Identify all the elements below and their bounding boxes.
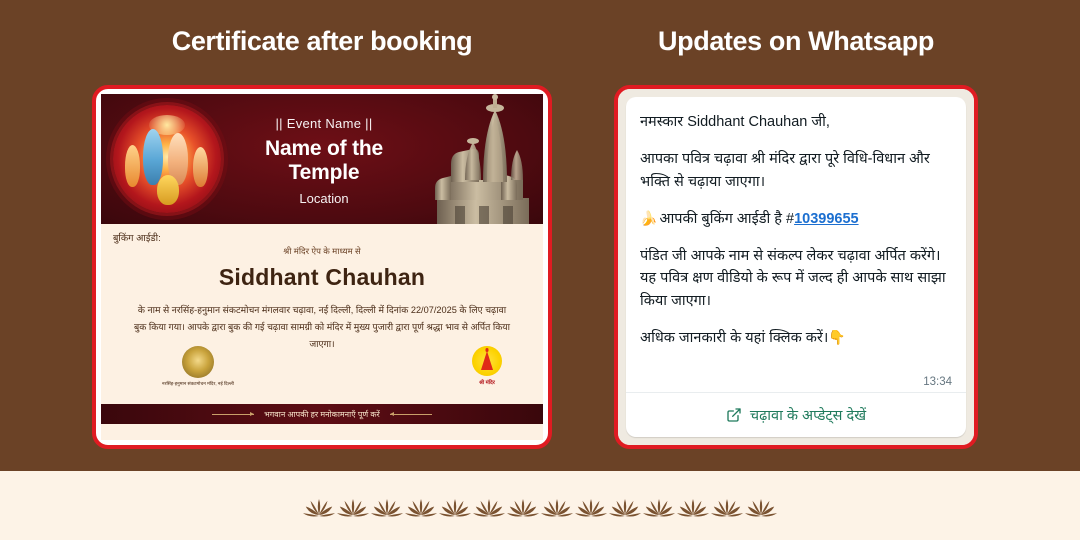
whatsapp-booking-prefix: आपकी बुकिंग आईडी है # bbox=[659, 211, 794, 227]
whatsapp-chat-canvas: नमस्कार Siddhant Chauhan जी, आपका पवित्र… bbox=[618, 89, 974, 445]
lotus-motif bbox=[676, 497, 710, 518]
lotus-motif bbox=[506, 497, 540, 518]
certificate-footer-text: भगवान आपकी हर मनोकामनाएँ पूर्ण करें bbox=[264, 409, 380, 420]
view-updates-button[interactable]: चढ़ावा के अप्डेट्स देखें bbox=[626, 392, 966, 437]
lotus-motif bbox=[574, 497, 608, 518]
certificate-panel-title: Certificate after booking bbox=[92, 26, 552, 57]
whatsapp-panel-title: Updates on Whatsapp bbox=[614, 26, 978, 57]
lotus-motif bbox=[540, 497, 574, 518]
whatsapp-greeting: नमस्कार Siddhant Chauhan जी, bbox=[640, 111, 952, 133]
screenshot-canvas: Certificate after booking Updates on Wha… bbox=[0, 0, 1080, 540]
temple-thumbnail-block: नरसिंह-हनुमान संकटमोचन मंदिर, नई दिल्ली bbox=[143, 346, 253, 388]
footer-rule-left-icon bbox=[212, 414, 254, 415]
brand-logo-block: श्री मंदिर bbox=[457, 346, 517, 386]
temple-name: Name of the Temple bbox=[229, 137, 419, 185]
whatsapp-more-info-text: अधिक जानकारी के यहां क्लिक करें। bbox=[640, 330, 828, 346]
deity-medallion-image bbox=[113, 105, 221, 213]
point-down-emoji-icon: 👇 bbox=[828, 329, 845, 345]
booking-id-link[interactable]: 10399655 bbox=[794, 211, 859, 227]
whatsapp-message-bubble: नमस्कार Siddhant Chauhan जी, आपका पवित्र… bbox=[626, 97, 966, 437]
whatsapp-booking-line: 🍌आपकी बुकिंग आईडी है #10399655 bbox=[640, 208, 952, 230]
temple-shikhara-image bbox=[421, 94, 541, 224]
booking-id-label: बुकिंग आईडी: bbox=[113, 231, 161, 244]
certificate-card: || Event Name || Name of the Temple Loca… bbox=[92, 85, 552, 449]
recipient-name: Siddhant Chauhan bbox=[101, 264, 543, 291]
message-timestamp: 13:34 bbox=[640, 376, 952, 392]
lotus-motif bbox=[472, 497, 506, 518]
certificate-inner: || Event Name || Name of the Temple Loca… bbox=[101, 94, 543, 440]
lotus-motif bbox=[744, 497, 778, 518]
certificate-footer-bar: भगवान आपकी हर मनोकामनाएँ पूर्ण करें bbox=[101, 404, 543, 424]
certificate-header-text: || Event Name || Name of the Temple Loca… bbox=[229, 116, 419, 206]
lotus-motif bbox=[370, 497, 404, 518]
lotus-motif bbox=[438, 497, 472, 518]
temple-location: Location bbox=[229, 191, 419, 206]
temple-thumbnail-image bbox=[182, 346, 214, 378]
shri-mandir-logo-icon bbox=[472, 346, 502, 376]
temple-thumbnail-caption: नरसिंह-हनुमान संकटमोचन मंदिर, नई दिल्ली bbox=[143, 381, 253, 388]
whatsapp-pandit-line: पंडित जी आपके नाम से संकल्प लेकर चढ़ावा … bbox=[640, 245, 952, 312]
brand-caption: श्री मंदिर bbox=[457, 378, 517, 386]
lotus-motif bbox=[608, 497, 642, 518]
lotus-motif bbox=[336, 497, 370, 518]
external-link-icon bbox=[726, 407, 742, 423]
lotus-motif bbox=[642, 497, 676, 518]
certificate-header: || Event Name || Name of the Temple Loca… bbox=[101, 94, 543, 224]
certificate-body: बुकिंग आईडी: श्री मंदिर ऐप के माध्यम से … bbox=[101, 224, 543, 424]
event-name: || Event Name || bbox=[229, 116, 419, 131]
banana-emoji-icon: 🍌 bbox=[640, 210, 657, 226]
whatsapp-more-info-line: अधिक जानकारी के यहां क्लिक करें।👇 bbox=[640, 327, 952, 349]
lotus-border-decoration bbox=[0, 486, 1080, 528]
view-updates-label: चढ़ावा के अप्डेट्स देखें bbox=[750, 405, 866, 425]
lotus-motif bbox=[302, 497, 336, 518]
via-app-text: श्री मंदिर ऐप के माध्यम से bbox=[101, 246, 543, 257]
footer-rule-right-icon bbox=[390, 414, 432, 415]
certificate-logos: नरसिंह-हनुमान संकटमोचन मंदिर, नई दिल्ली … bbox=[101, 346, 543, 404]
whatsapp-offering-line: आपका पवित्र चढ़ावा श्री मंदिर द्वारा पूर… bbox=[640, 148, 952, 193]
whatsapp-card: नमस्कार Siddhant Chauhan जी, आपका पवित्र… bbox=[614, 85, 978, 449]
lotus-motif bbox=[404, 497, 438, 518]
lotus-motif bbox=[710, 497, 744, 518]
